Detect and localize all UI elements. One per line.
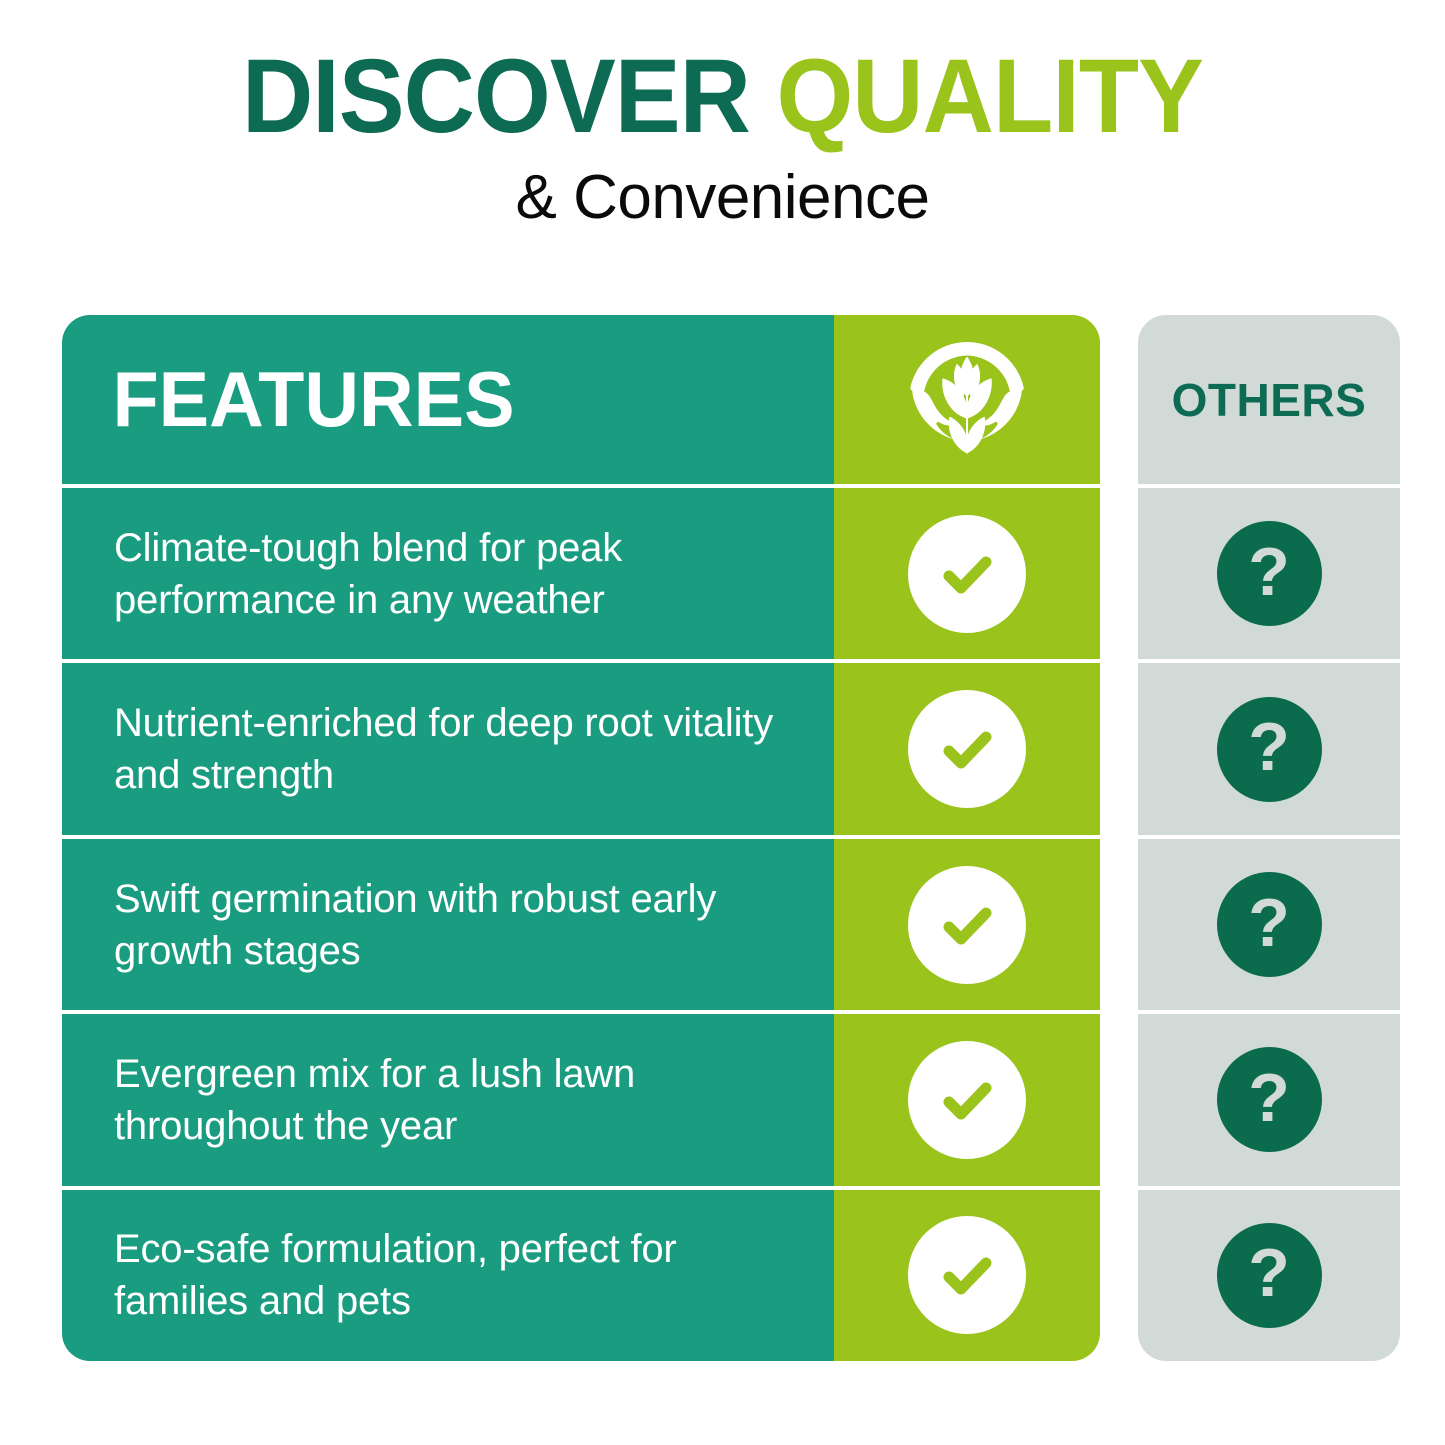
question-mark-glyph: ? [1248,538,1290,606]
question-mark-glyph: ? [1248,1239,1290,1307]
brand-check-cell [834,1190,1100,1361]
page-subtitle: & Convenience [0,149,1445,229]
others-question-cell: ? [1138,839,1400,1010]
table-row: Nutrient-enriched for deep root vitality… [62,663,834,834]
table-row: Eco-safe formulation, perfect for famili… [62,1190,834,1361]
table-row: Swift germination with robust early grow… [62,839,834,1010]
check-icon [908,690,1026,808]
brand-check-cell [834,1014,1100,1185]
page-title-part-discover: DISCOVER [242,38,750,155]
brand-comparison-card: FEATURES Climate-tough blend for peak pe… [62,315,1100,1361]
page-title-part-quality: QUALITY [776,38,1203,155]
feature-label: Evergreen mix for a lush lawn throughout… [62,1048,834,1152]
column-gap [1100,315,1138,1361]
check-icon [908,515,1026,633]
question-mark-icon: ? [1217,1047,1322,1152]
others-question-cell: ? [1138,1190,1400,1361]
feature-label: Climate-tough blend for peak performance… [62,522,834,626]
question-mark-icon: ? [1217,521,1322,626]
feature-label: Nutrient-enriched for deep root vitality… [62,697,834,801]
question-mark-glyph: ? [1248,889,1290,957]
table-row: Climate-tough blend for peak performance… [62,488,834,659]
question-mark-icon: ? [1217,872,1322,977]
brand-column [834,315,1100,1361]
table-row: Evergreen mix for a lush lawn throughout… [62,1014,834,1185]
check-icon [908,1041,1026,1159]
brand-column-header [834,315,1100,484]
comparison-table: FEATURES Climate-tough blend for peak pe… [62,315,1400,1361]
brand-check-cell [834,663,1100,834]
features-column-header: FEATURES [62,315,834,484]
check-icon [908,866,1026,984]
plant-in-hands-logo-icon [903,336,1031,464]
others-column: OTHERS ? ? ? ? ? [1138,315,1400,1361]
page-title: DISCOVER QUALITY [43,0,1401,149]
feature-label: Eco-safe formulation, perfect for famili… [62,1223,834,1327]
brand-check-cell [834,839,1100,1010]
others-column-header: OTHERS [1138,315,1400,484]
check-icon [908,1216,1026,1334]
others-question-cell: ? [1138,663,1400,834]
features-column: FEATURES Climate-tough blend for peak pe… [62,315,834,1361]
feature-label: Swift germination with robust early grow… [62,873,834,977]
others-header-label: OTHERS [1172,373,1367,427]
question-mark-glyph: ? [1248,713,1290,781]
brand-check-cell [834,488,1100,659]
question-mark-icon: ? [1217,697,1322,802]
page-heading: DISCOVER QUALITY & Convenience [0,0,1445,229]
others-question-cell: ? [1138,488,1400,659]
others-question-cell: ? [1138,1014,1400,1185]
question-mark-icon: ? [1217,1223,1322,1328]
question-mark-glyph: ? [1248,1064,1290,1132]
features-header-label: FEATURES [62,354,515,445]
